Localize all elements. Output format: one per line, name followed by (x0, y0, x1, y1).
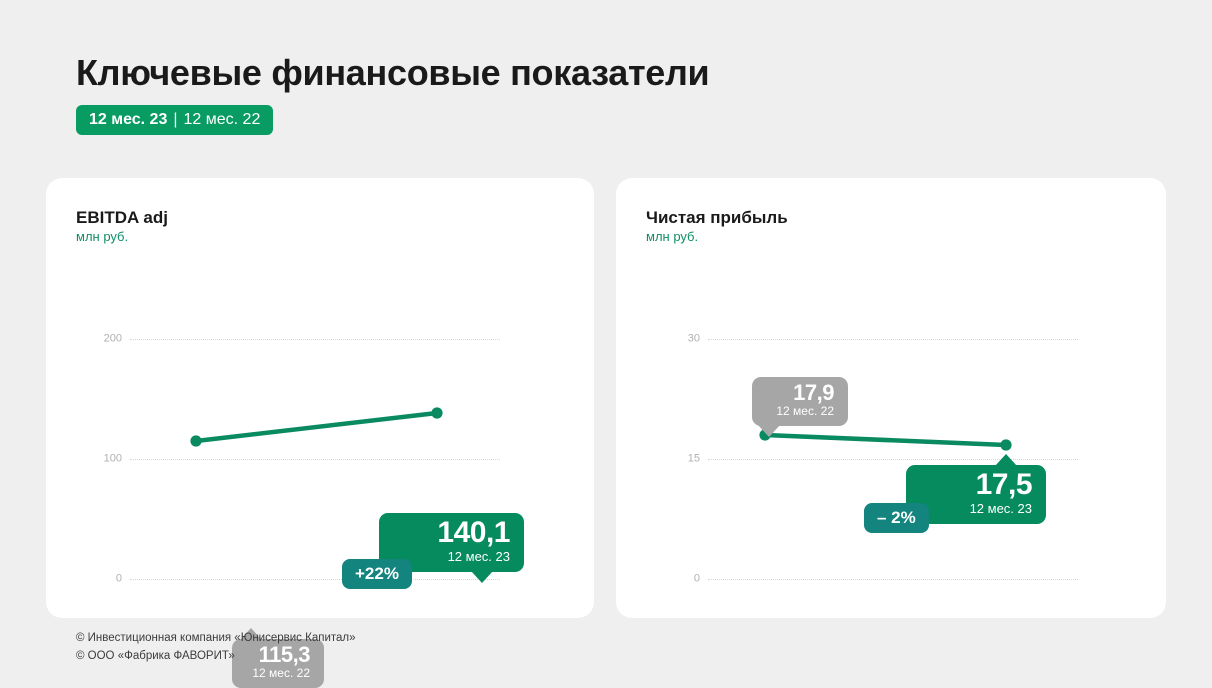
period-badge-previous: 12 мес. 22 (184, 111, 261, 129)
callout-tail-icon (471, 571, 493, 583)
value-callout-profit-2023-period: 12 мес. 23 (920, 502, 1032, 517)
delta-pill-profit: – 2% (864, 503, 929, 533)
callout-tail-icon (995, 454, 1017, 466)
chart-net-profit: 30 15 0 17,9 12 мес. 22 17,5 12 мес. 23 (616, 178, 1166, 618)
chart-ebitda-adj: 200 100 0 140,1 12 мес. 23 +22% 115,3 12… (46, 178, 594, 618)
card-ebitda-adj: EBITDA adj млн руб. 200 100 0 140,1 12 м… (46, 178, 594, 618)
callout-tail-icon (758, 425, 780, 437)
value-callout-profit-2022-value: 17,9 (766, 382, 834, 404)
slide-root: Ключевые финансовые показатели 12 мес. 2… (0, 0, 1212, 670)
delta-pill-ebitda: +22% (342, 559, 412, 589)
value-callout-profit-2022-period: 12 мес. 22 (766, 405, 834, 419)
card-net-profit: Чистая прибыль млн руб. 30 15 0 17,9 12 … (616, 178, 1166, 618)
period-badge-separator: | (173, 111, 177, 129)
value-callout-profit-2022: 17,9 12 мес. 22 (752, 377, 848, 426)
page-title: Ключевые финансовые показатели (76, 52, 709, 94)
footer-line-2: © ООО «Фабрика ФАВОРИТ» (76, 648, 356, 666)
footer-line-1: © Инвестиционная компания «Юнисервис Кап… (76, 630, 356, 648)
value-callout-profit-2023-value: 17,5 (920, 470, 1032, 501)
footer: © Инвестиционная компания «Юнисервис Кап… (76, 630, 356, 666)
period-badge-current: 12 мес. 23 (89, 111, 167, 129)
period-badge: 12 мес. 23 | 12 мес. 22 (76, 105, 273, 135)
value-callout-ebitda-2023-value: 140,1 (393, 518, 510, 549)
series-line-net-profit (616, 178, 1166, 618)
